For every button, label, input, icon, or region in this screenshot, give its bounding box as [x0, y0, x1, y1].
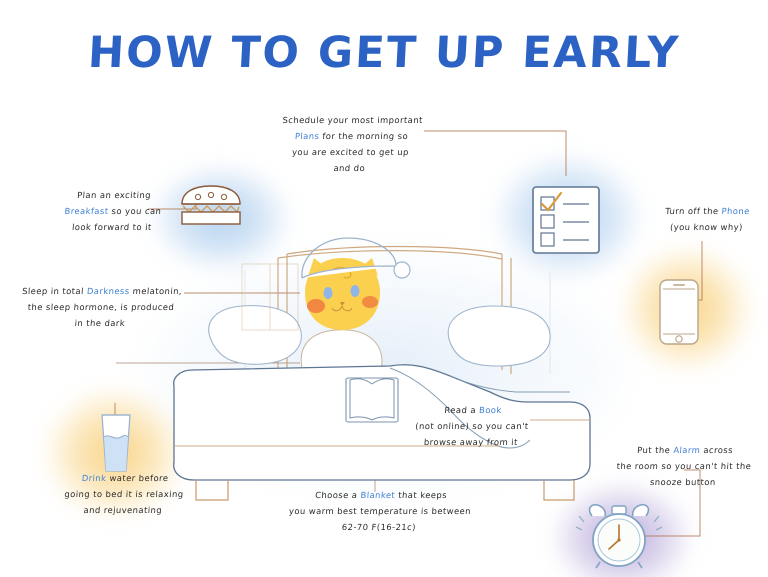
note-phone-line-2: (you know why) [651, 219, 762, 235]
window-icon [240, 262, 300, 332]
note-breakfast-line-2: Breakfast so you can [52, 203, 173, 219]
water-glass-icon [95, 413, 137, 475]
note-darkness: Sleep in total Darkness melatonin, the s… [16, 283, 185, 331]
infographic-canvas: HOW TO GET UP EARLY [0, 0, 768, 577]
keyword-book: Book [479, 405, 502, 415]
note-plans: Schedule your most important Plans for t… [275, 112, 427, 176]
note-breakfast-line-3: look forward to it [51, 219, 172, 235]
note-plans-line-4: and do [275, 160, 424, 176]
note-blanket-line-1: Choose a Blanket that keeps [289, 487, 474, 503]
open-book-icon [346, 378, 398, 422]
note-darkness-line-3: in the dark [16, 315, 183, 331]
note-book-line-1: Read a Book [403, 402, 544, 418]
note-alarm-line-2: the room so you can't hit the [603, 458, 764, 474]
burger-icon [176, 184, 246, 228]
smartphone-icon [658, 278, 700, 346]
keyword-plans: Plans [295, 131, 320, 141]
note-book-line-3: browse away from it [400, 434, 541, 450]
keyword-drink: Drink [81, 473, 106, 483]
note-phone-line-1: Turn off the Phone [652, 203, 763, 219]
cat-in-bed-illustration [150, 250, 620, 500]
note-plans-line-2: Plans for the morning so [277, 128, 426, 144]
note-blanket: Choose a Blanket that keeps you warm bes… [286, 487, 473, 535]
note-breakfast-line-1: Plan an exciting [54, 187, 175, 203]
alarm-clock-icon [578, 500, 660, 570]
note-water-line-2: going to bed it is relaxing [47, 486, 200, 502]
note-alarm: Put the Alarm across the room so you can… [602, 442, 765, 490]
note-blanket-line-3: 62-70 F(16-21c) [286, 519, 471, 535]
note-water-line-3: and rejuvenating [46, 502, 199, 518]
note-book: Read a Book (not online) so you can't br… [400, 402, 543, 450]
note-plans-line-3: you are excited to get up [276, 144, 425, 160]
note-water-line-1: Drink water before [49, 470, 202, 486]
note-alarm-line-3: snooze button [602, 474, 763, 490]
note-breakfast: Plan an exciting Breakfast so you can lo… [51, 187, 174, 235]
note-plans-line-1: Schedule your most important [278, 112, 427, 128]
note-blanket-line-2: you warm best temperature is between [287, 503, 472, 519]
note-phone: Turn off the Phone (you know why) [651, 203, 763, 235]
note-darkness-line-2: the sleep hormone, is produced [17, 299, 184, 315]
note-book-line-2: (not online) so you can't [401, 418, 542, 434]
keyword-breakfast: Breakfast [64, 206, 109, 216]
keyword-alarm: Alarm [673, 445, 701, 455]
note-water: Drink water before going to bed it is re… [46, 470, 201, 518]
checklist-icon [531, 185, 601, 255]
keyword-blanket: Blanket [360, 490, 395, 500]
keyword-phone: Phone [721, 206, 750, 216]
note-darkness-line-1: Sleep in total Darkness melatonin, [19, 283, 186, 299]
keyword-darkness: Darkness [87, 286, 130, 296]
note-alarm-line-1: Put the Alarm across [605, 442, 766, 458]
